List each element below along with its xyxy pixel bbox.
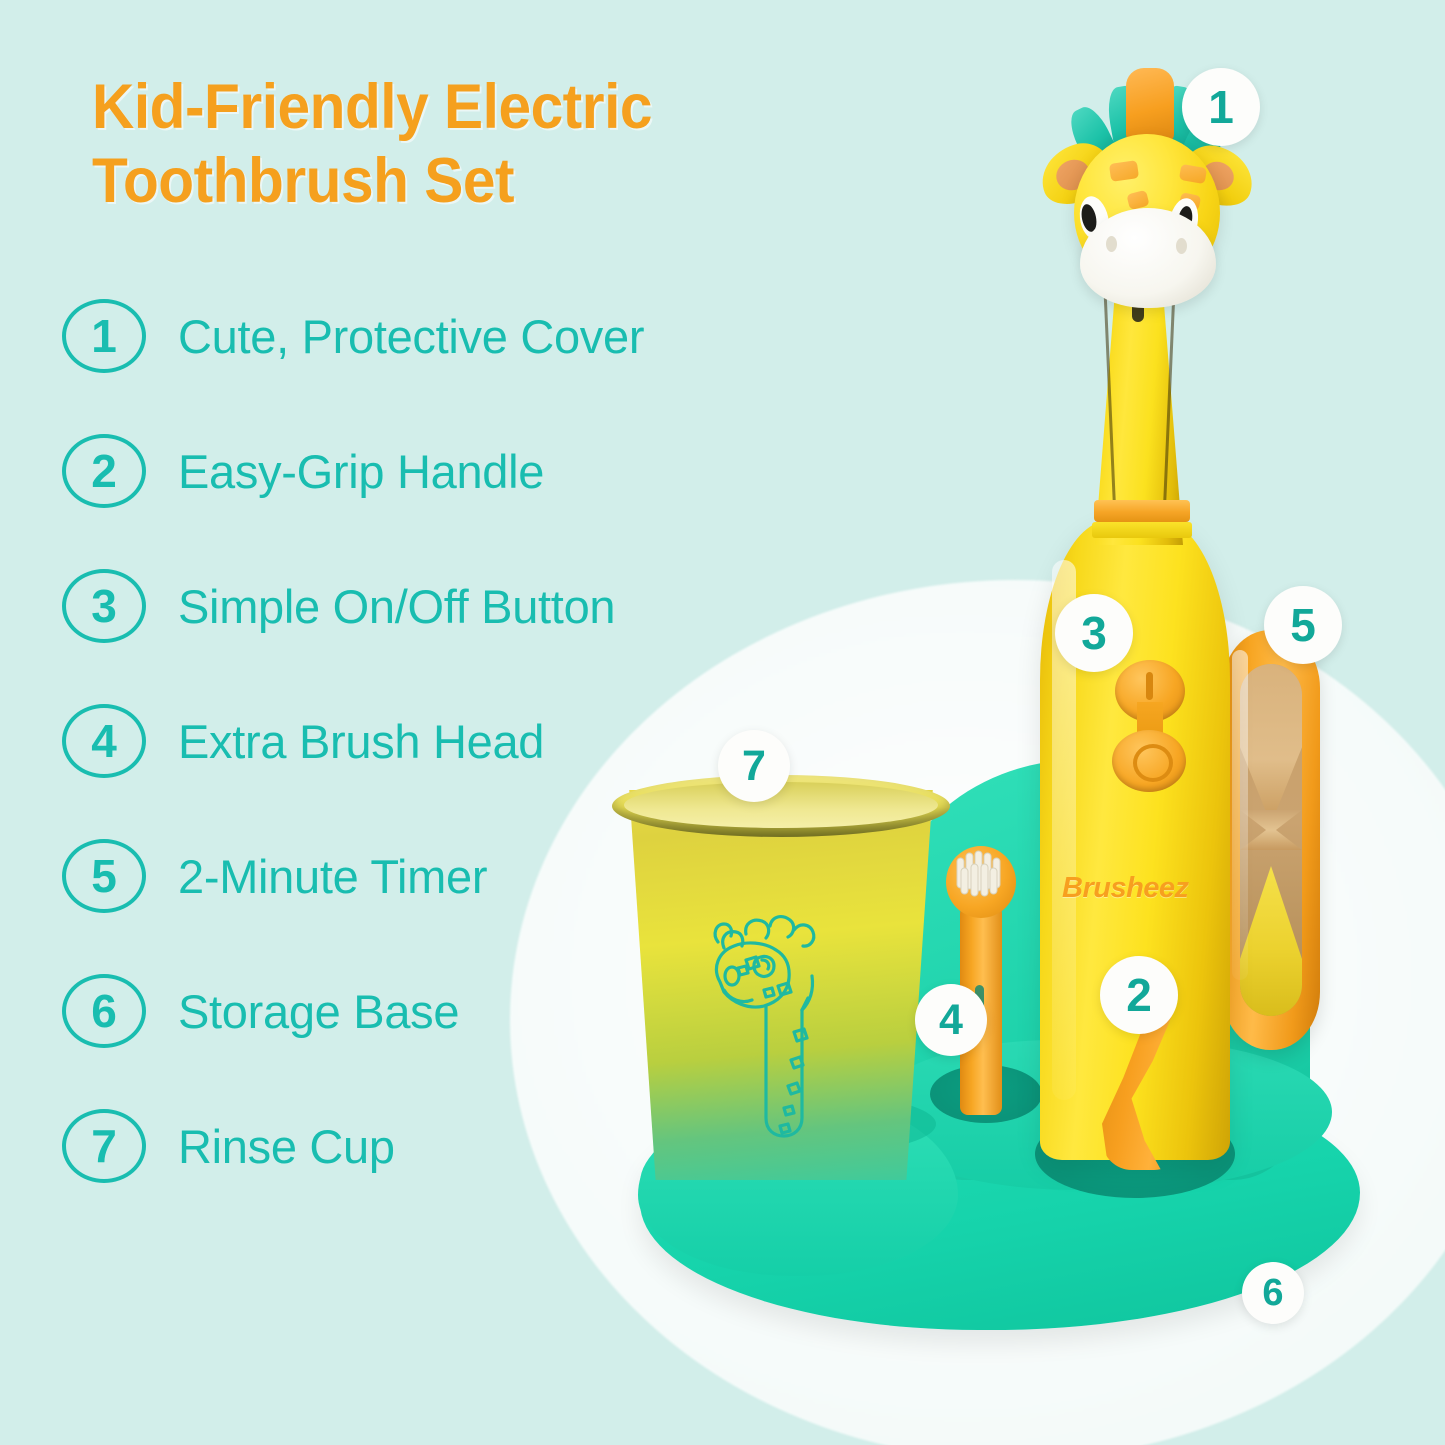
giraffe-mane-icon bbox=[1126, 68, 1174, 144]
power-bar-icon bbox=[1146, 672, 1153, 700]
power-ring-icon bbox=[1133, 744, 1173, 782]
giraffe-line-art-icon bbox=[690, 890, 880, 1150]
callout-badge-5: 5 bbox=[1264, 586, 1342, 664]
bristles-icon bbox=[953, 850, 1009, 908]
callout-badge-6: 6 bbox=[1242, 1262, 1304, 1324]
infographic-page: Kid-Friendly Electric Toothbrush Set 1 C… bbox=[0, 0, 1445, 1445]
callout-badge-3: 3 bbox=[1055, 594, 1133, 672]
callout-badge-4: 4 bbox=[915, 984, 987, 1056]
giraffe-spot-1 bbox=[1109, 160, 1139, 182]
callout-badge-2: 2 bbox=[1100, 956, 1178, 1034]
giraffe-nostril-right bbox=[1176, 238, 1187, 254]
cover-collar-band-lower bbox=[1092, 522, 1192, 538]
cover-collar-band bbox=[1094, 500, 1190, 522]
callout-badge-1: 1 bbox=[1182, 68, 1260, 146]
product-photo: Brusheez bbox=[0, 0, 1445, 1445]
timer-sand-lower bbox=[1240, 866, 1302, 1016]
callout-badge-7: 7 bbox=[718, 730, 790, 802]
timer-highlight bbox=[1232, 650, 1248, 980]
giraffe-nostril-left bbox=[1106, 236, 1117, 252]
timer-sand-upper bbox=[1240, 664, 1302, 824]
brand-logo: Brusheez bbox=[1062, 872, 1212, 905]
